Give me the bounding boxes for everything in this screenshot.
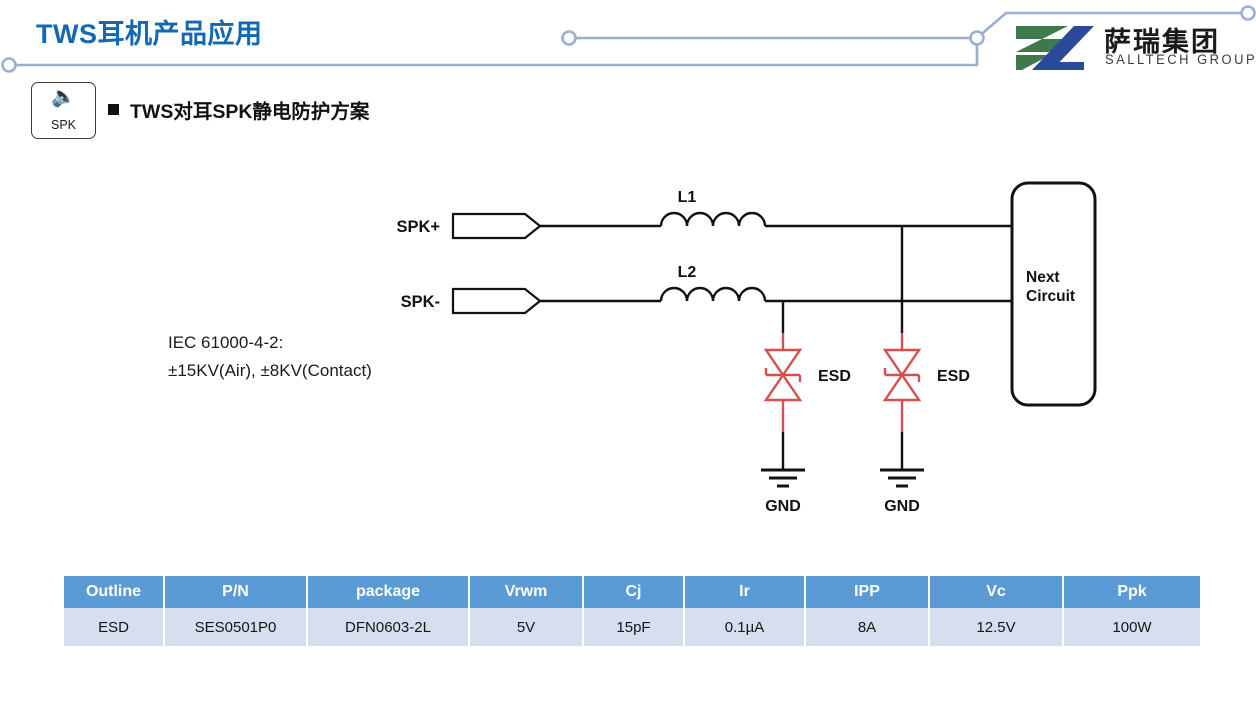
section-heading: TWS对耳SPK静电防护方案 <box>108 95 369 124</box>
iec-note-line2: ±15KV(Air), ±8KV(Contact) <box>168 361 372 380</box>
inductor-l1-label: L1 <box>678 189 697 206</box>
cell-vrwm: 5V <box>469 608 583 646</box>
spec-table: Outline P/N package Vrwm Cj Ir IPP Vc Pp… <box>64 576 1200 646</box>
spk-chip-label: SPK <box>32 118 95 132</box>
col-header-outline: Outline <box>64 576 164 608</box>
cell-vc: 12.5V <box>929 608 1063 646</box>
inductor-l1-symbol <box>661 213 765 226</box>
company-logo: 萨瑞集团 SALLTECH GROUP <box>1012 22 1244 74</box>
cell-pn: SES0501P0 <box>164 608 307 646</box>
table-row: ESD SES0501P0 DFN0603-2L 5V 15pF 0.1µA 8… <box>64 608 1200 646</box>
speaker-icon: 🔈 <box>32 87 95 107</box>
inductor-l2-symbol <box>661 288 765 301</box>
cell-ppk: 100W <box>1063 608 1200 646</box>
cell-ipp: 8A <box>805 608 929 646</box>
col-header-cj: Cj <box>583 576 684 608</box>
gnd-label-1: GND <box>765 498 801 515</box>
col-header-pn: P/N <box>164 576 307 608</box>
next-circuit-line1: Next <box>1026 269 1060 286</box>
port-label-spk-minus: SPK- <box>401 293 440 311</box>
table-header-row: Outline P/N package Vrwm Cj Ir IPP Vc Pp… <box>64 576 1200 608</box>
salltech-logo-icon <box>1012 22 1098 74</box>
iec-note-line1: IEC 61000-4-2: <box>168 333 283 352</box>
ground-symbol-1 <box>761 470 805 486</box>
col-header-ipp: IPP <box>805 576 929 608</box>
spk-chip-badge: 🔈 SPK <box>31 82 96 139</box>
section-heading-text: TWS对耳SPK静电防护方案 <box>130 95 369 124</box>
connector-symbol-spk-minus <box>453 289 540 313</box>
col-header-package: package <box>307 576 469 608</box>
logo-name-en: SALLTECH GROUP <box>1105 52 1256 67</box>
col-header-vc: Vc <box>929 576 1063 608</box>
connector-symbol-spk-plus <box>453 214 540 238</box>
col-header-vrwm: Vrwm <box>469 576 583 608</box>
cell-ir: 0.1µA <box>684 608 805 646</box>
cell-cj: 15pF <box>583 608 684 646</box>
circuit-diagram: IEC 61000-4-2: ±15KV(Air), ±8KV(Contact)… <box>140 170 1150 530</box>
esd-diode-1 <box>766 333 800 432</box>
col-header-ir: Ir <box>684 576 805 608</box>
cell-outline: ESD <box>64 608 164 646</box>
inductor-l2-label: L2 <box>678 264 697 281</box>
next-circuit-line2: Circuit <box>1026 288 1075 305</box>
esd-label-1: ESD <box>818 368 851 385</box>
gnd-label-2: GND <box>884 498 920 515</box>
esd-label-2: ESD <box>937 368 970 385</box>
col-header-ppk: Ppk <box>1063 576 1200 608</box>
ground-symbol-2 <box>880 470 924 486</box>
cell-package: DFN0603-2L <box>307 608 469 646</box>
square-bullet-icon <box>108 104 119 115</box>
esd-diode-2 <box>885 333 919 432</box>
port-label-spk-plus: SPK+ <box>396 218 440 236</box>
page-title: TWS耳机产品应用 <box>36 12 263 51</box>
